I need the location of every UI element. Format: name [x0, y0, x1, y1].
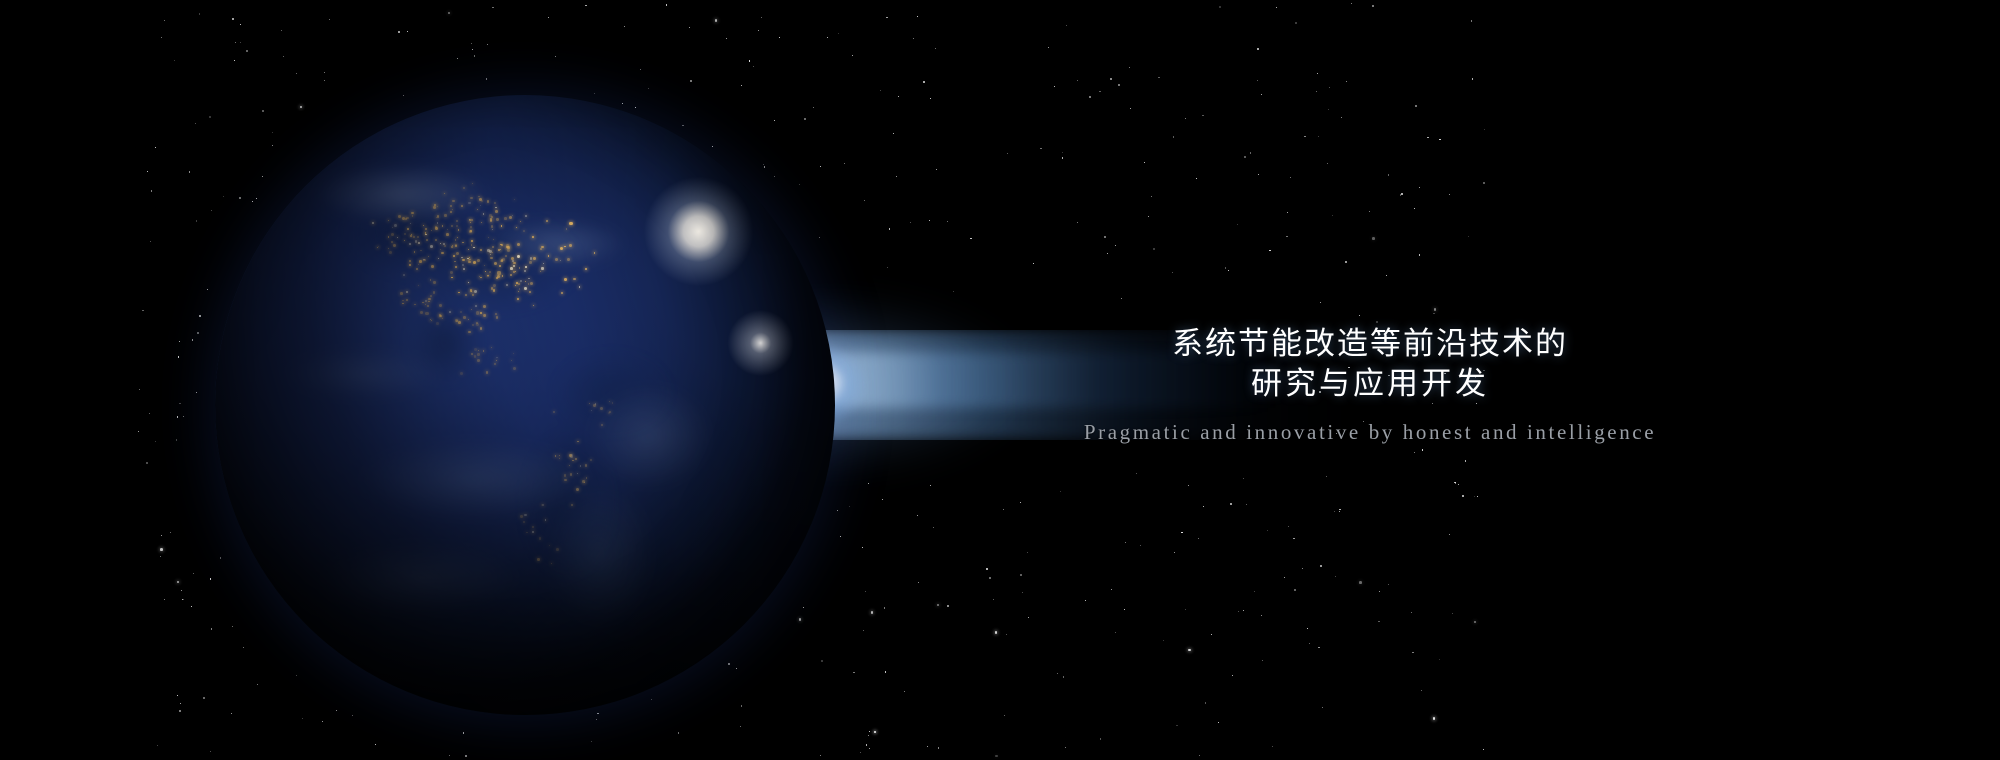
earth-atmosphere-limb — [215, 95, 835, 715]
earth-globe — [215, 95, 835, 715]
headline-line-2: 研究与应用开发 — [940, 364, 1800, 404]
hero-banner: 系统节能改造等前沿技术的 研究与应用开发 Pragmatic and innov… — [0, 0, 2000, 760]
headline-line-1: 系统节能改造等前沿技术的 — [940, 324, 1800, 364]
banner-copy: 系统节能改造等前沿技术的 研究与应用开发 Pragmatic and innov… — [940, 324, 1800, 445]
tagline: Pragmatic and innovative by honest and i… — [940, 420, 1800, 445]
